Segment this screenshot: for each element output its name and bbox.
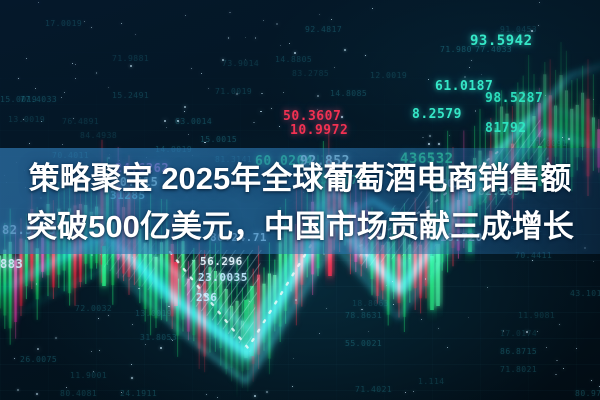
- background-number: 883: [0, 258, 23, 270]
- banner-image: 17.001992.481791.045371.988173.901414.88…: [0, 0, 600, 400]
- background-number: 23.0035: [198, 272, 248, 283]
- background-number: 56.296: [200, 256, 243, 267]
- background-number: 93.5942: [470, 34, 533, 48]
- headline-text: 策略聚宝 2025年全球葡萄酒电商销售额突破500亿美元，中国市场贡献三成增长: [0, 155, 600, 251]
- background-number: 236: [196, 292, 217, 303]
- background-number: 98.5287: [485, 92, 543, 105]
- background-number: 8.2579: [412, 108, 462, 121]
- background-number: 50.3607: [283, 110, 341, 123]
- background-number: 81792: [485, 122, 527, 135]
- background-number: 10.9972: [290, 124, 348, 137]
